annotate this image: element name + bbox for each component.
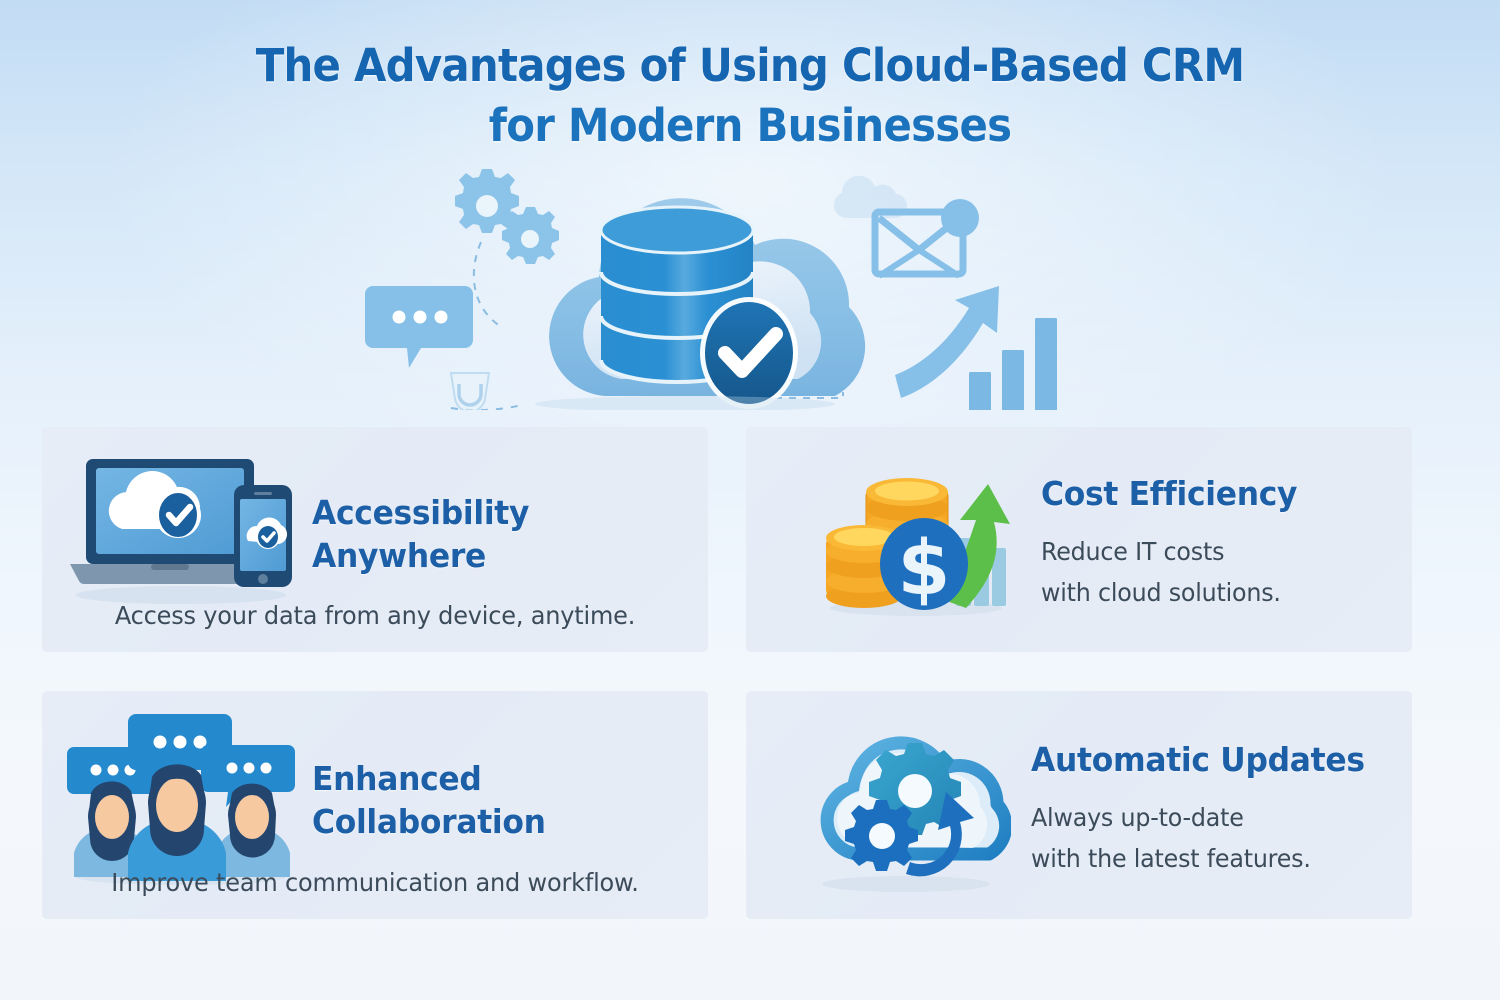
card-cost-efficiency[interactable]: $ Cost Efficiency Reduce IT costs with c… (746, 427, 1412, 652)
infographic-canvas: The Advantages of Using Cloud-Based CRM … (0, 0, 1500, 1000)
page-title: The Advantages of Using Cloud-Based CRM … (0, 36, 1500, 156)
envelope-icon (875, 199, 979, 276)
card-accessibility-anywhere[interactable]: Accessibility Anywhere Access your data … (42, 427, 708, 652)
page-title-line-1: The Advantages of Using Cloud-Based CRM (53, 36, 1448, 96)
card-desc-cost-2: with cloud solutions. (1041, 572, 1374, 613)
card-desc-updates-2: with the latest features. (1031, 838, 1374, 879)
page-title-line-2: for Modern Businesses (53, 96, 1448, 156)
benefit-card-grid: Accessibility Anywhere Access your data … (42, 427, 1412, 919)
person-right (216, 784, 290, 877)
card-title-accessibility-2: Anywhere (312, 534, 688, 577)
card-desc-cost-1: Reduce IT costs (1041, 531, 1374, 572)
people-chat-bubbles-icon (42, 705, 312, 885)
cloud-gears-refresh-icon (746, 718, 1031, 893)
card-enhanced-collaboration[interactable]: Enhanced Collaboration Improve team comm… (42, 691, 708, 919)
card-title-accessibility: Accessibility (312, 491, 688, 534)
coins-dollar-growth-icon: $ (746, 460, 1041, 620)
laptop-phone-cloud-check-icon (42, 449, 312, 609)
check-badge-icon (700, 297, 798, 409)
card-title-cost-efficiency: Cost Efficiency (1041, 472, 1374, 515)
card-desc-updates-1: Always up-to-date (1031, 797, 1374, 838)
gear-small-icon (845, 800, 918, 871)
card-caption-accessibility: Access your data from any device, anytim… (55, 601, 694, 630)
card-title-collaboration: Enhanced (312, 757, 688, 800)
chat-bubble-icon (365, 286, 473, 368)
card-title-automatic-updates: Automatic Updates (1031, 738, 1374, 781)
bar-chart-icon (969, 318, 1057, 410)
card-caption-collaboration: Improve team communication and workflow. (55, 868, 694, 897)
gear-small-icon (502, 207, 559, 264)
cloud-crm-illustration (355, 160, 1065, 410)
gear-large-icon (455, 169, 519, 233)
shield-outline-icon (451, 373, 489, 410)
svg-text:$: $ (898, 523, 951, 612)
card-title-collaboration-2: Collaboration (312, 800, 688, 843)
card-automatic-updates[interactable]: Automatic Updates Always up-to-date with… (746, 691, 1412, 919)
